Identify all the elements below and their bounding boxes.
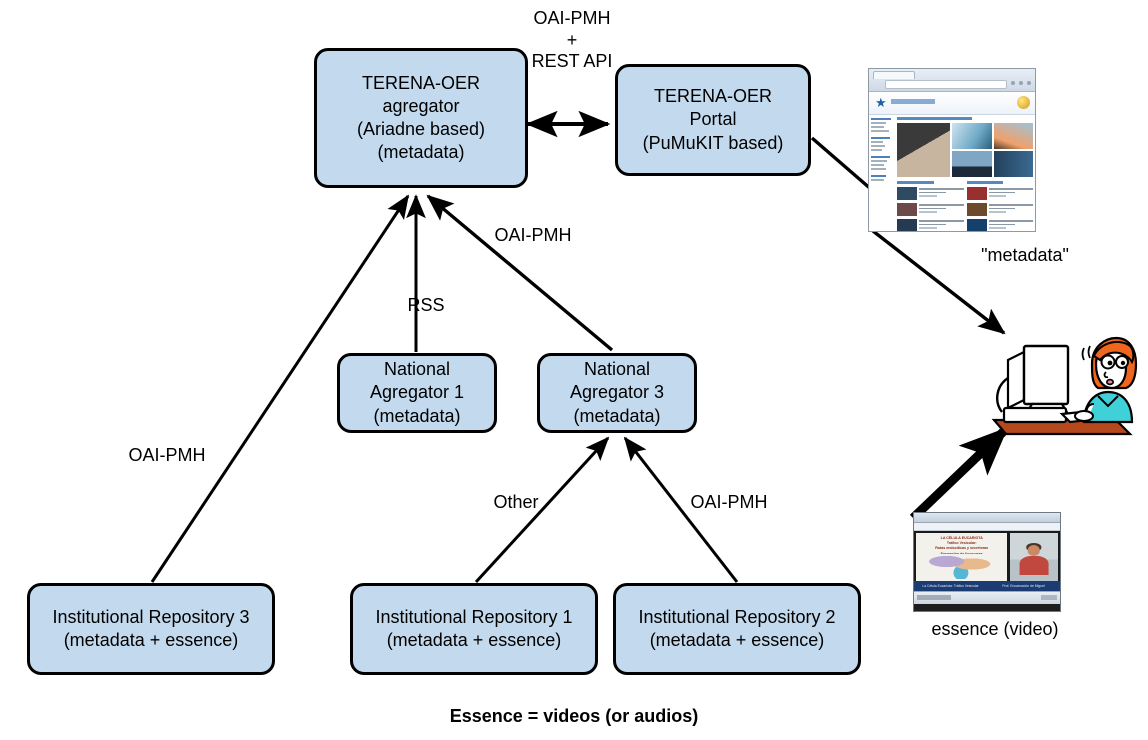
slide-diagram-artwork: [923, 554, 1002, 579]
node-line: (metadata + essence): [30, 629, 272, 652]
portal-main-column: [897, 117, 1033, 232]
node-line: (metadata + essence): [353, 629, 595, 652]
node-terena-oer-portal[interactable]: TERENA-OER Portal (PuMuKIT based): [615, 64, 811, 176]
video-caption-right: Prof. Encarnación de Miguel: [987, 584, 1060, 588]
video-player-screenshot[interactable]: LA CÉLULA EUCARIOTA Tráfico Vesicular: R…: [913, 512, 1061, 612]
lecture-slide: LA CÉLULA EUCARIOTA Tráfico Vesicular: R…: [916, 533, 1007, 581]
node-line: TERENA-OER: [317, 72, 525, 95]
annotation-essence-video: essence (video): [905, 619, 1085, 640]
playback-controls[interactable]: [917, 595, 951, 600]
video-thumbnail[interactable]: [952, 151, 991, 177]
portal-list-columns: [897, 181, 1033, 232]
node-line: Institutional Repository 3: [30, 606, 272, 629]
portal-sidebar[interactable]: [869, 115, 895, 232]
video-window-chrome: [914, 513, 1060, 523]
node-institutional-repository-1[interactable]: Institutional Repository 1 (metadata + e…: [350, 583, 598, 675]
star-logo-icon: ★: [875, 96, 887, 109]
video-thumbnail[interactable]: [897, 123, 950, 177]
user-at-computer-illustration: [988, 330, 1140, 442]
video-window-titlebar: [914, 523, 1060, 531]
video-caption-strip: La Célula Eucariota: Tráfico Vesicular P…: [914, 581, 1060, 591]
portal-channel-badge-icon: [1017, 96, 1030, 109]
edge-portal-screenshot: [812, 138, 872, 190]
node-line: National: [340, 358, 494, 381]
node-line: (PuMuKIT based): [618, 132, 808, 155]
diagram-canvas: TERENA-OER agregator (Ariadne based) (me…: [0, 0, 1148, 740]
browser-icon: [1027, 81, 1031, 85]
user-pupil: [1108, 361, 1113, 366]
diagram-footer-caption: Essence = videos (or audios): [434, 706, 714, 727]
portal-browser-screenshot[interactable]: ★: [868, 68, 1036, 232]
browser-chrome: [869, 69, 1035, 92]
node-institutional-repository-2[interactable]: Institutional Repository 2 (metadata + e…: [613, 583, 861, 675]
browser-icon: [1019, 81, 1023, 85]
monitor-screen: [1024, 346, 1068, 404]
edge-label-ir1-na3: Other: [481, 492, 551, 514]
portal-page-body: [869, 115, 1035, 232]
list-item[interactable]: [897, 203, 964, 216]
edge-na3-aggregator: [428, 196, 612, 350]
browser-tab: [873, 71, 915, 79]
portal-site-header: ★: [869, 92, 1035, 115]
node-line: Institutional Repository 1: [353, 606, 595, 629]
edge-label-ir3-aggregator: OAI-PMH: [117, 445, 217, 467]
list-item[interactable]: [897, 219, 964, 232]
user-mouth: [1107, 380, 1113, 385]
node-terena-oer-aggregator[interactable]: TERENA-OER agregator (Ariadne based) (me…: [314, 48, 528, 188]
user-pupil: [1121, 361, 1125, 365]
edge-video-user: [913, 432, 1003, 518]
list-item[interactable]: [967, 203, 1034, 216]
computer-tower: [1004, 408, 1066, 422]
node-line: (metadata + essence): [616, 629, 858, 652]
edge-label-na3-aggregator: OAI-PMH: [483, 225, 583, 247]
node-line: (metadata): [540, 405, 694, 428]
section-heading-bar: [897, 117, 972, 120]
annotation-metadata: "metadata": [955, 245, 1095, 266]
video-caption-left: La Célula Eucariota: Tráfico Vesicular: [914, 584, 987, 588]
user-hand: [1075, 411, 1093, 421]
portal-featured-grid[interactable]: [897, 123, 1033, 177]
edge-label-aggregator-portal: OAI-PMH + REST API: [507, 8, 637, 73]
node-line: Portal: [618, 108, 808, 131]
lecturer-body: [1019, 556, 1048, 575]
list-item[interactable]: [967, 187, 1034, 200]
motion-lines: [1083, 346, 1091, 360]
browser-icon: [1011, 81, 1015, 85]
node-line: (metadata): [340, 405, 494, 428]
lecturer-video-frame: [1010, 533, 1058, 581]
portal-list-column: [967, 181, 1034, 232]
monitor-side: [1008, 352, 1024, 408]
list-item[interactable]: [967, 219, 1034, 232]
node-line: (Ariadne based): [317, 118, 525, 141]
video-controls-bar[interactable]: [914, 591, 1060, 604]
node-line: TERENA-OER: [618, 85, 808, 108]
node-line: (metadata): [317, 141, 525, 164]
node-line: Agregator 1: [340, 381, 494, 404]
node-national-aggregator-3[interactable]: National Agregator 3 (metadata): [537, 353, 697, 433]
volume-controls[interactable]: [1041, 595, 1057, 600]
node-line: agregator: [317, 95, 525, 118]
node-line: National: [540, 358, 694, 381]
edge-label-na1-aggregator: RSS: [396, 295, 456, 317]
list-item[interactable]: [897, 187, 964, 200]
portal-list-column: [897, 181, 964, 232]
node-institutional-repository-3[interactable]: Institutional Repository 3 (metadata + e…: [27, 583, 275, 675]
node-line: Agregator 3: [540, 381, 694, 404]
edge-label-ir2-na3: OAI-PMH: [679, 492, 779, 514]
node-line: Institutional Repository 2: [616, 606, 858, 629]
video-thumbnail[interactable]: [994, 123, 1033, 149]
lecturer-head: [1028, 545, 1041, 556]
video-thumbnail[interactable]: [952, 123, 991, 149]
video-thumbnail[interactable]: [994, 151, 1033, 177]
node-national-aggregator-1[interactable]: National Agregator 1 (metadata): [337, 353, 497, 433]
monitor-cable: [997, 378, 1008, 412]
browser-url-bar[interactable]: [885, 80, 1007, 89]
portal-brand-wordmark: [891, 99, 935, 104]
video-stage[interactable]: LA CÉLULA EUCARIOTA Tráfico Vesicular: R…: [914, 531, 1060, 591]
